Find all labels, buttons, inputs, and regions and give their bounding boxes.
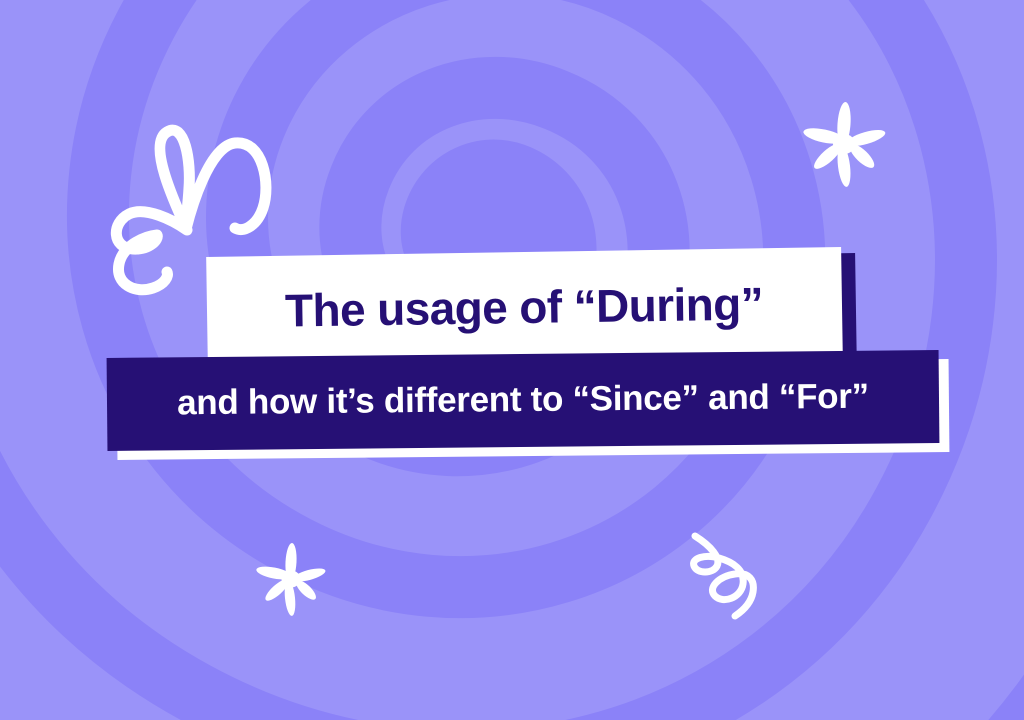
title-banner-group: The usage of “During” and how it’s diffe… [0,0,1024,720]
title-banner-top: The usage of “During” [206,247,843,369]
page-title-line-1: The usage of “During” [285,280,764,336]
title-card: The usage of “During” and how it’s diffe… [0,0,1024,720]
title-banner-bottom: and how it’s different to “Since” and “F… [107,350,940,451]
page-title-line-2: and how it’s different to “Since” and “F… [177,379,869,423]
